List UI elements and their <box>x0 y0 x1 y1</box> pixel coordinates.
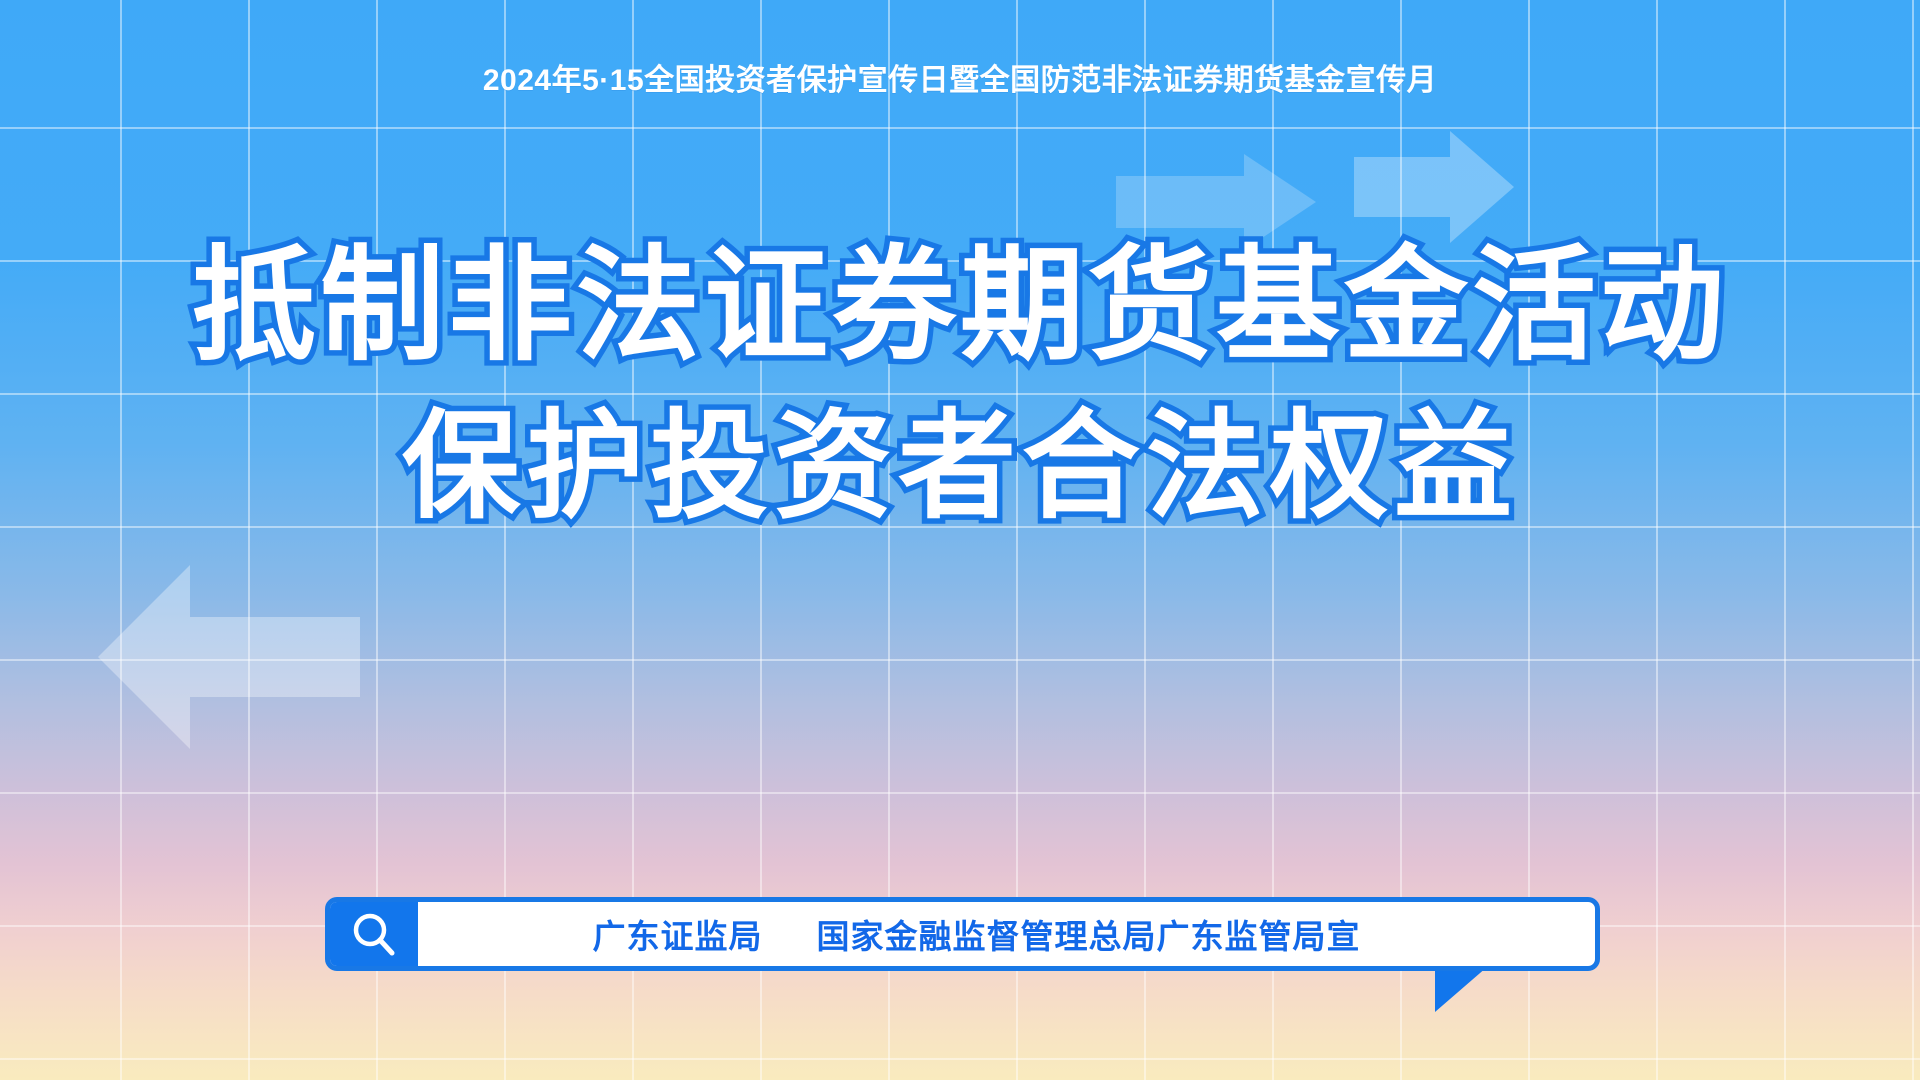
arrow-left-large-icon <box>98 565 360 749</box>
headline-block: 抵制非法证券期货基金活动 保护投资者合法权益 <box>0 226 1920 546</box>
headline-line-1: 抵制非法证券期货基金活动 <box>0 226 1920 386</box>
poster-canvas: 2024年5·15全国投资者保护宣传日暨全国防范非法证券期货基金宣传月 抵制非法… <box>0 0 1920 1080</box>
organization-banner: 广东证监局 国家金融监督管理总局广东监管局宣 <box>325 897 1600 971</box>
banner-organizations: 广东证监局 国家金融监督管理总局广东监管局宣 <box>418 902 1595 966</box>
organization-name-0: 广东证监局 <box>593 910 763 958</box>
headline-line-2: 保护投资者合法权益 <box>0 386 1920 546</box>
search-icon <box>330 902 418 966</box>
speech-bubble-tail <box>1435 967 1487 1012</box>
organization-name-1: 国家金融监督管理总局广东监管局宣 <box>817 910 1361 958</box>
event-header-text: 2024年5·15全国投资者保护宣传日暨全国防范非法证券期货基金宣传月 <box>0 61 1920 101</box>
banner-body: 广东证监局 国家金融监督管理总局广东监管局宣 <box>325 897 1600 971</box>
